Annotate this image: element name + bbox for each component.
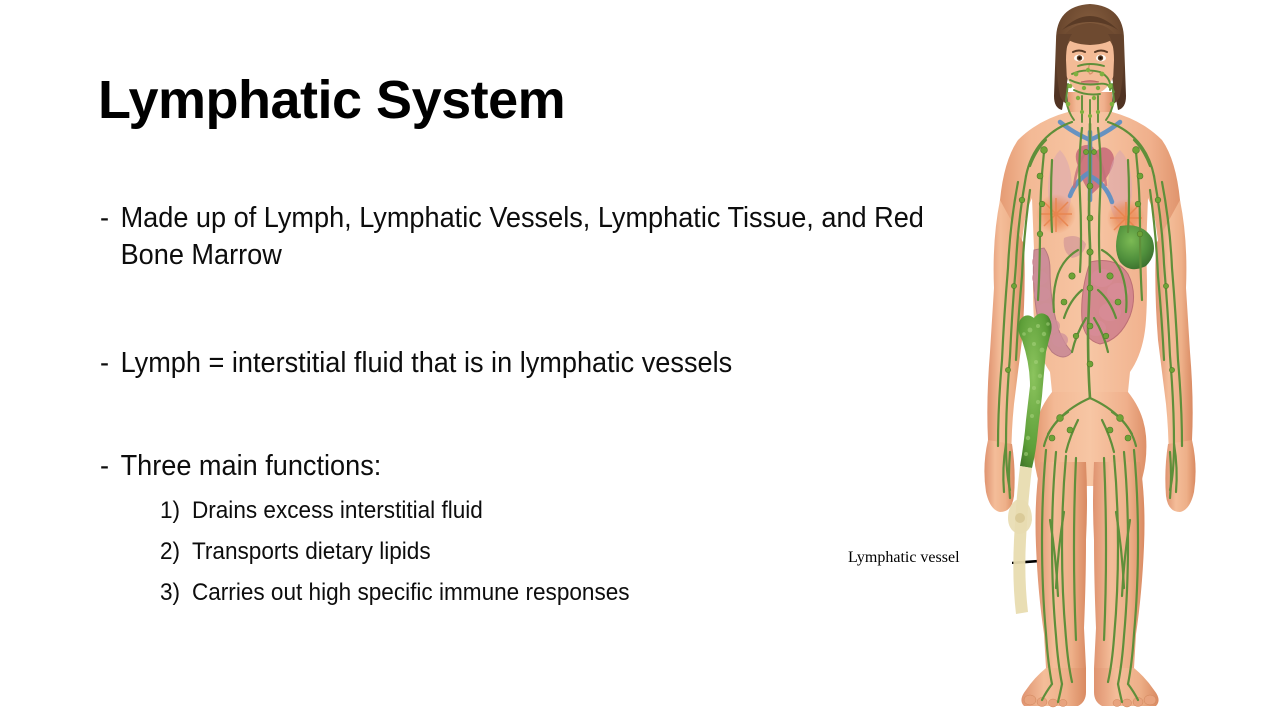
- slide-canvas: Lymphatic System -Made up of Lymph, Lymp…: [0, 0, 1280, 720]
- list-item-number: 2): [160, 536, 192, 567]
- list-item-label: Carries out high specific immune respons…: [192, 577, 630, 608]
- bullet-marker: -: [100, 448, 121, 485]
- list-item: 3) Carries out high specific immune resp…: [160, 577, 874, 618]
- bullet-text: Lymph = interstitial fluid that is in ly…: [121, 345, 925, 382]
- list-item-label: Drains excess interstitial fluid: [192, 495, 483, 526]
- list-item-number: 1): [160, 495, 192, 526]
- bullet-text: Made up of Lymph, Lymphatic Vessels, Lym…: [121, 200, 925, 274]
- numbered-sub-list: 1) Drains excess interstitial fluid 2) T…: [160, 495, 920, 618]
- bullet-marker: -: [100, 345, 121, 382]
- lymphatic-system-illustration: [960, 0, 1280, 720]
- page-title: Lymphatic System: [98, 72, 565, 129]
- list-item: 1) Drains excess interstitial fluid: [160, 495, 874, 536]
- callout-label-lymphatic-vessel: Lymphatic vessel: [848, 549, 960, 567]
- bullet-item-1: -Made up of Lymph, Lymphatic Vessels, Ly…: [100, 200, 942, 274]
- bullet-marker: -: [100, 200, 121, 237]
- bullet-item-2: -Lymph = interstitial fluid that is in l…: [100, 345, 942, 382]
- bullet-text: Three main functions:: [121, 448, 925, 485]
- list-item: 2) Transports dietary lipids: [160, 536, 874, 577]
- bullet-item-3: -Three main functions:: [100, 448, 942, 485]
- list-item-number: 3): [160, 577, 192, 608]
- list-item-label: Transports dietary lipids: [192, 536, 431, 567]
- slide-text-column: Lymphatic System -Made up of Lymph, Lymp…: [0, 0, 1010, 720]
